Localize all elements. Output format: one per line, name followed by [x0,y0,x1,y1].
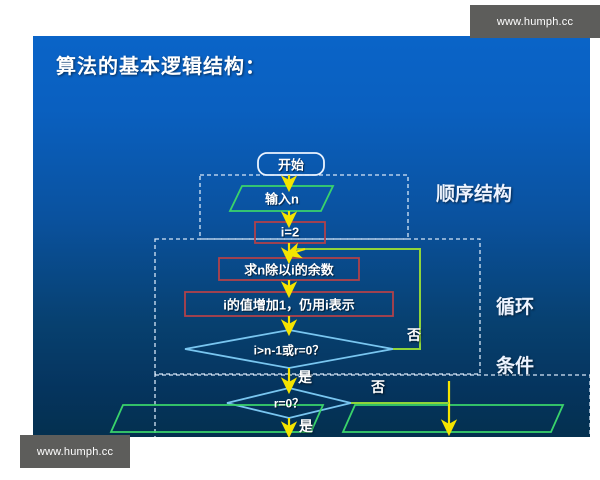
watermark-top: www.humph.cc [470,5,600,38]
region-box-condition [155,375,590,437]
flowchart-canvas: 开始 输入n i=2 求n除以i的余数 i的值增加1，仍用i表示 i>n-1或r… [33,36,590,437]
presentation-slide: 算法的基本逻辑结构： [33,36,590,437]
watermark-top-text: www.humph.cc [497,16,573,28]
node-increment [185,292,393,316]
slide-screenshot: 算法的基本逻辑结构： [0,0,600,480]
node-remainder [219,258,359,280]
cond-no-path [351,396,449,403]
watermark-bottom-text: www.humph.cc [37,446,113,458]
node-input-n [230,186,333,211]
watermark-bottom: www.humph.cc [20,435,130,468]
node-cond-loop [185,330,393,368]
region-box-loop [155,239,480,374]
node-output-left [111,405,323,432]
node-cond-r [227,388,351,418]
node-start [258,153,324,175]
node-output-right [343,405,563,432]
node-init-i [255,222,325,243]
flowchart-svg [33,36,590,437]
